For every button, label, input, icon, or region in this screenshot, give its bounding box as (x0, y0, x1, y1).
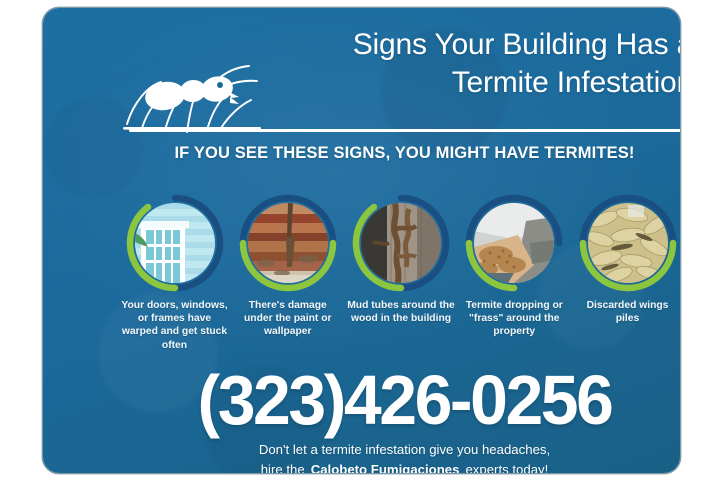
list-item: Termite dropping or "frass" around the p… (463, 194, 566, 339)
headline-line-1: Signs Your Building Has a (353, 28, 680, 61)
sign-caption: There's damage under the paint or wallpa… (234, 299, 342, 339)
list-item: Discarded wings piles (576, 194, 679, 325)
ant-icon (103, 58, 283, 138)
sign-caption: Termite dropping or "frass" around the p… (460, 299, 568, 339)
discarded-wings-photo (588, 203, 668, 283)
damaged-paint-wood-photo (248, 203, 328, 283)
list-item: There's damage under the paint or wallpa… (236, 194, 339, 339)
tagline-line-1: Don't let a termite infestation give you… (259, 442, 550, 457)
warped-window-photo (135, 203, 215, 283)
poster-panel: Signs Your Building Has a Termite Infest… (43, 8, 680, 473)
list-item: Mud tubes around the wood in the buildin… (350, 194, 453, 325)
sign-caption: Your doors, windows, or frames have warp… (121, 299, 229, 352)
tagline: Don't let a termite infestation give you… (86, 440, 680, 473)
termite-frass-photo (474, 203, 554, 283)
tagline-line-2: hire theCalobeto Fumigacionesexperts tod… (86, 460, 680, 473)
mud-tubes-photo (361, 203, 441, 283)
sign-circle (579, 194, 677, 292)
sign-circle (126, 194, 224, 292)
subtitle: IF YOU SEE THESE SIGNS, YOU MIGHT HAVE T… (86, 144, 680, 163)
brand-name: Calobeto Fumigaciones (305, 462, 466, 473)
signs-list: Your doors, windows, or frames have warp… (123, 194, 679, 369)
sign-caption: Discarded wings piles (574, 299, 681, 325)
sign-circle (465, 194, 563, 292)
sign-circle (239, 194, 337, 292)
sign-circle (352, 194, 450, 292)
header-divider (129, 129, 680, 132)
tagline-prefix: hire the (261, 462, 305, 473)
tagline-suffix: experts today! (465, 462, 548, 473)
list-item: Your doors, windows, or frames have warp… (123, 194, 226, 352)
phone-number[interactable]: (323)426-0256 (96, 363, 680, 437)
termite-infographic-poster: Signs Your Building Has a Termite Infest… (0, 0, 720, 480)
sign-caption: Mud tubes around the wood in the buildin… (347, 299, 455, 325)
